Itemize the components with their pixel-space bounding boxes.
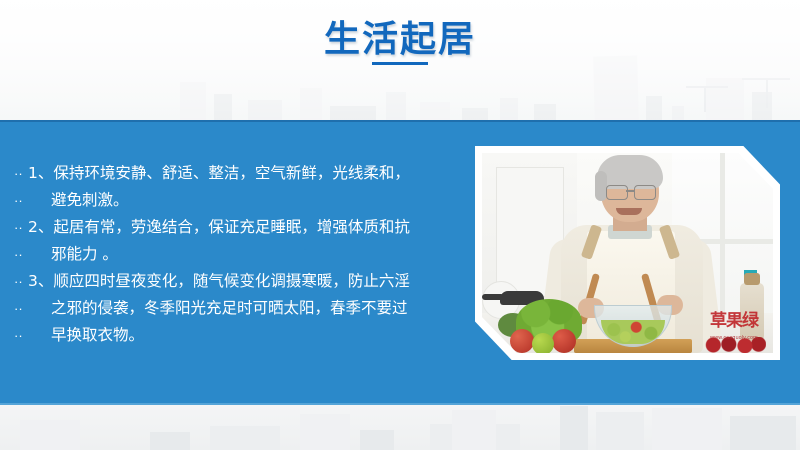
bullet-dot-icon: · [14,295,28,322]
page-title: 生活起居 [0,18,800,59]
list-item-label: 早换取衣物。 [28,322,464,349]
bullet-dot-icon: · [14,160,28,187]
list-item: · 3、顺应四时昼夜变化，随气候变化调摄寒暖，防止六淫 [14,268,464,295]
photo-image: 草果绿 www.caoguolv.com [482,153,773,353]
list-item-label: 之邪的侵袭，冬季阳光充足时可晒太阳，春季不要过 [28,295,464,322]
list-item: · 之邪的侵袭，冬季阳光充足时可晒太阳，春季不要过 [14,295,464,322]
background-cityscape-bottom [0,405,800,450]
apple-red [510,329,534,353]
photo-watermark: 草果绿 www.caoguolv.com [710,313,768,347]
bullet-dot-icon: · [14,322,28,349]
apple-red [552,329,576,353]
list-item-label: 邪能力 。 [28,241,464,268]
title-underline [372,62,428,65]
page-title-text: 生活起居 [324,18,476,59]
apple-green [532,333,554,353]
list-item-label: 3、顺应四时昼夜变化，随气候变化调摄寒暖，防止六淫 [28,268,464,295]
bullet-list: · 1、保持环境安静、舒适、整洁，空气新鲜，光线柔和， · 避免刺激。 · 2、… [14,160,464,349]
list-item-label: 避免刺激。 [28,187,464,214]
list-item: · 邪能力 。 [14,241,464,268]
bullet-dot-icon: · [14,214,28,241]
list-item-label: 1、保持环境安静、舒适、整洁，空气新鲜，光线柔和， [28,160,464,187]
list-item: · 早换取衣物。 [14,322,464,349]
slide: 生活起居 · 1、保持环境安静、舒适、整洁，空气新鲜，光线柔和， · 避免刺激。… [0,0,800,450]
watermark-text: 草果绿 [710,311,758,331]
photo-frame: 草果绿 www.caoguolv.com [475,146,780,360]
list-item-label: 2、起居有常，劳逸结合，保证充足睡眠，增强体质和抗 [28,214,464,241]
watermark-subtext: www.caoguolv.com [710,330,768,347]
bullet-dot-icon: · [14,187,28,214]
bullet-dot-icon: · [14,268,28,295]
list-item: · 1、保持环境安静、舒适、整洁，空气新鲜，光线柔和， [14,160,464,187]
list-item: · 2、起居有常，劳逸结合，保证充足睡眠，增强体质和抗 [14,214,464,241]
person-smile [616,208,642,215]
bullet-dot-icon: · [14,241,28,268]
eyeglasses-icon [606,185,654,198]
list-item: · 避免刺激。 [14,187,464,214]
